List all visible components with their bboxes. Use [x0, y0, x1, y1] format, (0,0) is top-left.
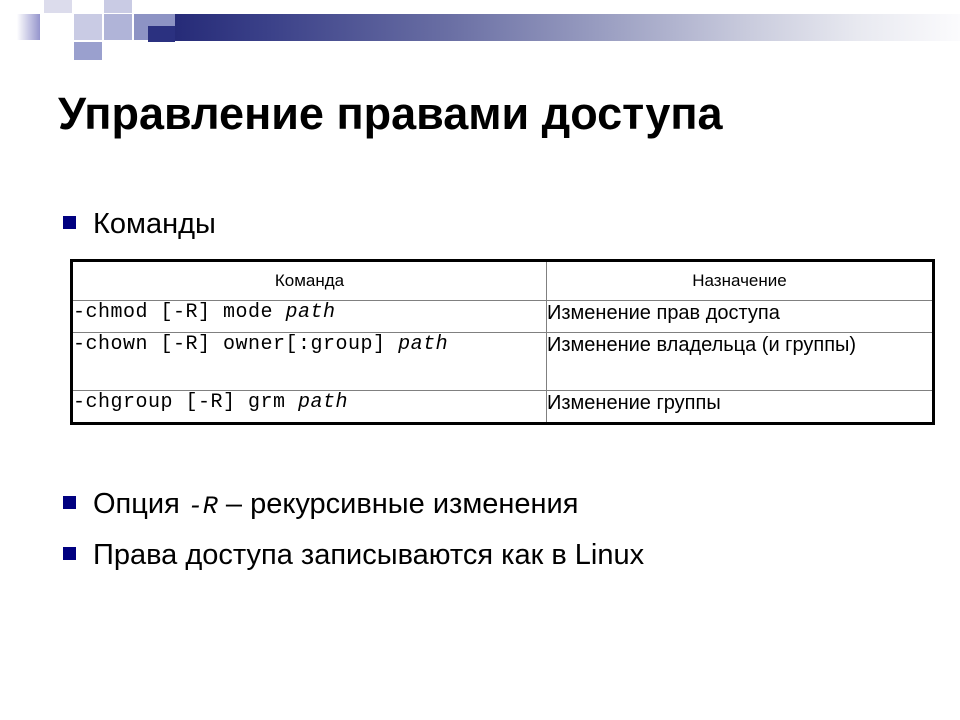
- deco-square-9: [74, 42, 102, 60]
- deco-square-10: [44, 0, 72, 13]
- deco-left-fade: [0, 0, 42, 60]
- command-text: -chgroup [-R] grm: [73, 391, 298, 414]
- square-bullet-icon: [63, 547, 76, 560]
- table-row: -chgroup [-R] grm path Изменение группы: [72, 391, 934, 424]
- option-flag-code: -R: [188, 492, 218, 521]
- command-text: -chmod [-R] mode: [73, 301, 286, 324]
- bullet-item-option: Опция -R – рекурсивные изменения: [63, 487, 578, 522]
- cell-purpose-chgroup: Изменение группы: [547, 391, 934, 424]
- column-header-command: Команда: [72, 261, 547, 301]
- column-header-purpose: Назначение: [547, 261, 934, 301]
- deco-square-3: [148, 26, 175, 42]
- command-text: -chown [-R] owner[:group]: [73, 333, 398, 356]
- cell-command-chmod: -chmod [-R] mode path: [72, 301, 547, 333]
- deco-square-5: [104, 14, 132, 40]
- table-header-row: Команда Назначение: [72, 261, 934, 301]
- deco-square-6: [104, 42, 132, 60]
- deco-square-12: [44, 44, 72, 60]
- deco-square-8: [74, 14, 102, 40]
- commands-table-container: Команда Назначение -chmod [-R] mode path…: [70, 259, 932, 425]
- page-title: Управление правами доступа: [58, 88, 918, 140]
- bullet-item-commands: Команды: [63, 207, 216, 242]
- slide-header-decoration: [0, 0, 960, 60]
- cell-command-chgroup: -chgroup [-R] grm path: [72, 391, 547, 424]
- bullet-label-option: Опция -R – рекурсивные изменения: [93, 487, 578, 522]
- square-bullet-icon: [63, 216, 76, 229]
- gradient-bar: [175, 14, 960, 41]
- command-arg-italic: path: [286, 301, 336, 324]
- bullet-label-rights: Права доступа записываются как в Linux: [93, 538, 644, 573]
- bullet-label-commands: Команды: [93, 207, 216, 242]
- table-row: -chown [-R] owner[:group] path Изменение…: [72, 333, 934, 391]
- option-text-after: – рекурсивные изменения: [218, 488, 579, 520]
- deco-square-7: [74, 0, 102, 13]
- cell-command-chown: -chown [-R] owner[:group] path: [72, 333, 547, 391]
- deco-square-11: [44, 14, 72, 42]
- commands-table: Команда Назначение -chmod [-R] mode path…: [70, 259, 935, 425]
- square-bullet-icon: [63, 496, 76, 509]
- command-arg-italic: path: [298, 391, 348, 414]
- cell-purpose-chmod: Изменение прав доступа: [547, 301, 934, 333]
- command-arg-italic: path: [398, 333, 448, 356]
- bullet-item-rights: Права доступа записываются как в Linux: [63, 538, 644, 573]
- deco-square-1: [134, 0, 175, 13]
- cell-purpose-chown: Изменение владельца (и группы): [547, 333, 934, 391]
- deco-square-4: [104, 0, 132, 13]
- table-row: -chmod [-R] mode path Изменение прав дос…: [72, 301, 934, 333]
- option-text-before: Опция: [93, 488, 188, 520]
